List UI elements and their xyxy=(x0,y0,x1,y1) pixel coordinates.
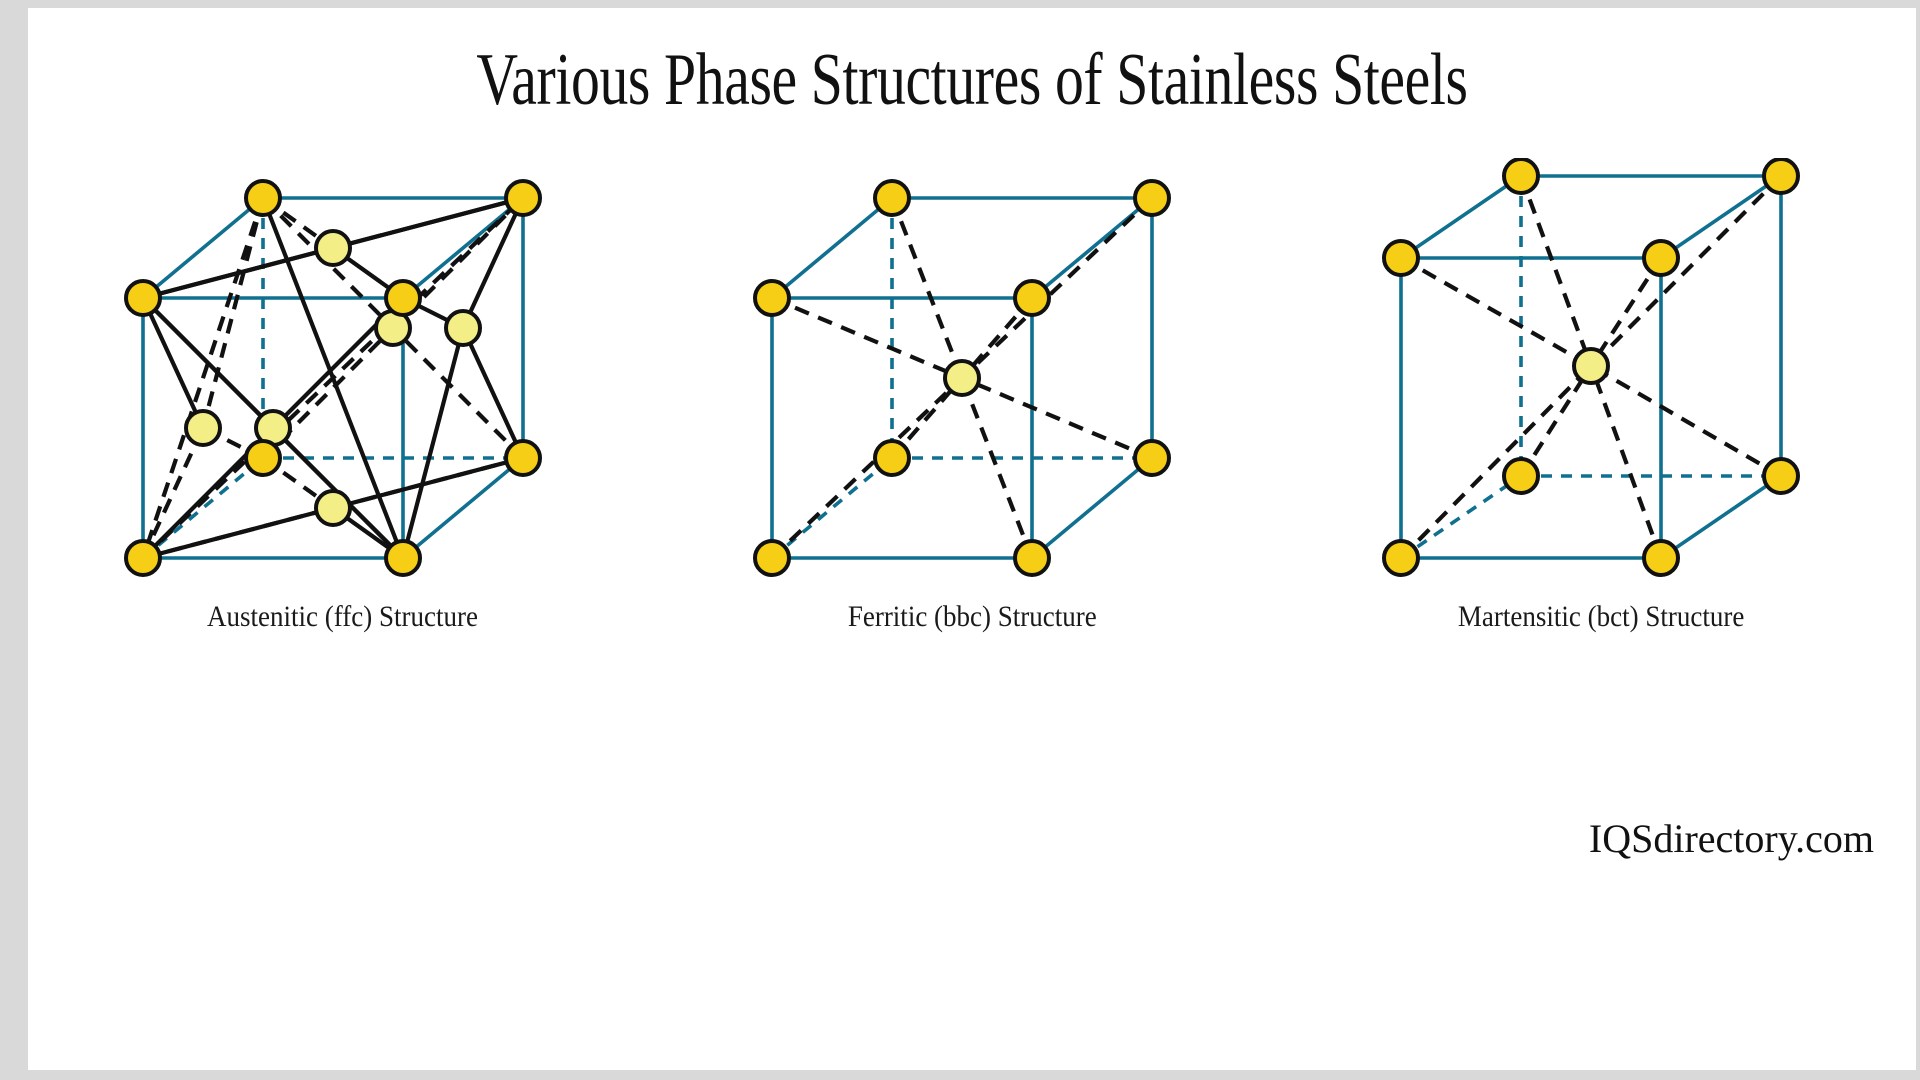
atom-face-top xyxy=(316,231,350,265)
figure-caption-ferritic: Ferritic (bbc) Structure xyxy=(848,600,1097,634)
atom-corner-back-top-right xyxy=(1764,159,1798,193)
atom-body-center xyxy=(1574,349,1608,383)
figure-ferritic-bcc: Ferritic (bbc) Structure xyxy=(692,158,1252,634)
atom-corner-back-bottom-right xyxy=(1135,441,1169,475)
atom-corner-back-top-right xyxy=(1135,181,1169,215)
atom-corner-front-bottom-left xyxy=(126,541,160,575)
atom-corner-back-top-left xyxy=(875,181,909,215)
atom-corner-back-bottom-right xyxy=(1764,459,1798,493)
atom-face-right xyxy=(446,311,480,345)
atom-corner-front-top-left xyxy=(126,281,160,315)
atom-corner-front-bottom-right xyxy=(386,541,420,575)
atom-face-bottom xyxy=(316,491,350,525)
atom-corner-front-bottom-right xyxy=(1015,541,1049,575)
atom-body-center xyxy=(945,361,979,395)
atom-corner-front-top-right xyxy=(1644,241,1678,275)
atom-corner-front-top-left xyxy=(755,281,789,315)
content-card: Various Phase Structures of Stainless St… xyxy=(28,8,1916,1070)
atom-corner-back-top-right xyxy=(506,181,540,215)
fcc-lattice-diagram xyxy=(103,158,583,598)
atom-corner-front-bottom-left xyxy=(1384,541,1418,575)
atom-corner-front-bottom-right xyxy=(1644,541,1678,575)
atom-corner-back-bottom-left xyxy=(246,441,280,475)
atom-face-left xyxy=(186,411,220,445)
figure-martensitic-bct: Martensitic (bct) Structure xyxy=(1321,158,1881,634)
atom-corner-front-top-right xyxy=(386,281,420,315)
atom-corner-back-bottom-right xyxy=(506,441,540,475)
atom-corner-back-bottom-left xyxy=(1504,459,1538,493)
figure-austenitic-fcc: Austenitic (ffc) Structure xyxy=(63,158,623,634)
atom-corner-front-top-left xyxy=(1384,241,1418,275)
watermark-iqsdirectory: IQSdirectory.com xyxy=(1589,815,1874,862)
atom-corner-front-bottom-left xyxy=(755,541,789,575)
bct-lattice-diagram xyxy=(1361,158,1841,598)
atom-corner-front-top-right xyxy=(1015,281,1049,315)
figure-caption-austenitic: Austenitic (ffc) Structure xyxy=(207,600,478,634)
atom-corner-back-top-left xyxy=(246,181,280,215)
page-background: Various Phase Structures of Stainless St… xyxy=(0,0,1920,1080)
bcc-lattice-diagram xyxy=(732,158,1212,598)
atom-corner-back-bottom-left xyxy=(875,441,909,475)
page-title: Various Phase Structures of Stainless St… xyxy=(236,38,1709,123)
figures-row: Austenitic (ffc) Structure xyxy=(28,158,1916,698)
figure-caption-martensitic: Martensitic (bct) Structure xyxy=(1458,600,1744,634)
atom-corner-back-top-left xyxy=(1504,159,1538,193)
